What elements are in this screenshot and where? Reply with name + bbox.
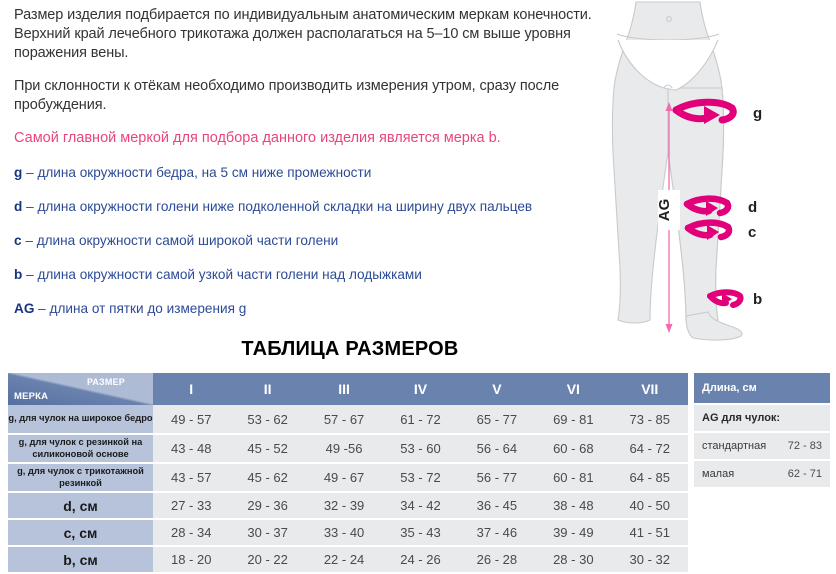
cell-r2c5: 60 - 81 (535, 463, 611, 492)
definition-text-c: длина окружности самой широкой части гол… (37, 233, 339, 248)
row-label-d: d, см (8, 492, 153, 519)
length-panel: Длина, см AG для чулок: стандартная 72 -… (694, 373, 830, 489)
size-table: РАЗМЕР МЕРКА I II III IV V VI VII g, для… (8, 373, 688, 574)
cell-r5c3: 24 - 26 (382, 546, 458, 573)
cell-r4c5: 39 - 49 (535, 519, 611, 546)
cell-r0c5: 69 - 81 (535, 405, 611, 434)
length-panel-header: Длина, см (694, 373, 830, 405)
cell-r3c1: 29 - 36 (229, 492, 305, 519)
cell-r4c3: 35 - 43 (382, 519, 458, 546)
table-row: b, см 18 - 20 20 - 22 22 - 24 24 - 26 26… (8, 546, 688, 573)
cell-r5c6: 30 - 32 (612, 546, 688, 573)
intro-text-column: Размер изделия подбирается по индивидуал… (14, 6, 614, 334)
length-row-name-standard: стандартная (702, 440, 788, 452)
cell-r2c2: 49 - 67 (306, 463, 382, 492)
column-header-2: II (229, 373, 305, 405)
length-row-value-standard: 72 - 83 (788, 440, 822, 452)
definition-key-d: d (14, 199, 22, 214)
cell-r0c4: 65 - 77 (459, 405, 535, 434)
cell-r2c1: 45 - 62 (229, 463, 305, 492)
page-title: ТАБЛИЦА РАЗМЕРОВ (0, 338, 700, 361)
length-row-name-small: малая (702, 468, 788, 480)
definition-dash-g: – (26, 165, 34, 180)
cell-r4c1: 30 - 37 (229, 519, 305, 546)
row-label-b: b, см (8, 546, 153, 573)
cell-r1c2: 49 -56 (306, 434, 382, 463)
cell-r3c6: 40 - 50 (612, 492, 688, 519)
cell-r5c2: 22 - 24 (306, 546, 382, 573)
highlight-note: Самой главной меркой для подбора данного… (14, 129, 614, 148)
length-panel-row-standard: стандартная 72 - 83 (694, 433, 830, 461)
column-header-5: V (459, 373, 535, 405)
definition-dash-c: – (25, 233, 33, 248)
definition-text-g: длина окружности бедра, на 5 см ниже про… (37, 165, 371, 180)
table-row: g, для чулок на широкое бедро 49 - 57 53… (8, 405, 688, 434)
cell-r3c0: 27 - 33 (153, 492, 229, 519)
diagram-label-b: b (753, 291, 762, 308)
column-header-4: IV (382, 373, 458, 405)
column-header-3: III (306, 373, 382, 405)
cell-r2c6: 64 - 85 (612, 463, 688, 492)
definition-dash-ag: – (38, 301, 46, 316)
cell-r3c3: 34 - 42 (382, 492, 458, 519)
definition-dash-d: – (26, 199, 34, 214)
length-panel-row-small: малая 62 - 71 (694, 461, 830, 489)
corner-label-merka: МЕРКА (14, 391, 48, 402)
definition-ag: AG – длина от пятки до измерения g (14, 300, 614, 318)
cell-r5c4: 26 - 28 (459, 546, 535, 573)
row-label-g-knitted: g, для чулок с трикотажной резинкой (8, 463, 153, 492)
cell-r2c4: 56 - 77 (459, 463, 535, 492)
cell-r4c0: 28 - 34 (153, 519, 229, 546)
leg-measurement-diagram: AG g d (598, 0, 836, 352)
cell-r3c4: 36 - 45 (459, 492, 535, 519)
cell-r4c6: 41 - 51 (612, 519, 688, 546)
cell-r0c2: 57 - 67 (306, 405, 382, 434)
table-row: c, см 28 - 34 30 - 37 33 - 40 35 - 43 37… (8, 519, 688, 546)
cell-r0c0: 49 - 57 (153, 405, 229, 434)
column-header-6: VI (535, 373, 611, 405)
definition-d: d – длина окружности голени ниже подколе… (14, 198, 614, 216)
cell-r1c0: 43 - 48 (153, 434, 229, 463)
cell-r5c5: 28 - 30 (535, 546, 611, 573)
length-panel-subtitle-row: AG для чулок: (694, 405, 830, 433)
table-corner-cell: РАЗМЕР МЕРКА (8, 373, 153, 405)
intro-paragraph-1: Размер изделия подбирается по индивидуал… (14, 6, 614, 63)
cell-r5c0: 18 - 20 (153, 546, 229, 573)
length-panel-subtitle: AG для чулок: (702, 412, 822, 424)
table-header-row: РАЗМЕР МЕРКА I II III IV V VI VII (8, 373, 688, 405)
cell-r3c2: 32 - 39 (306, 492, 382, 519)
intro-paragraph-2: При склонности к отёкам необходимо произ… (14, 77, 614, 115)
definition-key-g: g (14, 165, 22, 180)
definition-key-b: b (14, 267, 22, 282)
definition-key-c: c (14, 233, 22, 248)
cell-r1c4: 56 - 64 (459, 434, 535, 463)
table-row: g, для чулок с трикотажной резинкой 43 -… (8, 463, 688, 492)
definition-dash-b: – (26, 267, 34, 282)
diagram-label-g: g (753, 105, 762, 122)
svg-text:AG: AG (656, 199, 673, 222)
definition-text-d: длина окружности голени ниже подколенной… (37, 199, 532, 214)
table-row: g, для чулок с резинкой на силиконовой о… (8, 434, 688, 463)
column-header-1: I (153, 373, 229, 405)
definition-g: g – длина окружности бедра, на 5 см ниже… (14, 164, 614, 182)
table-row: d, см 27 - 33 29 - 36 32 - 39 34 - 42 36… (8, 492, 688, 519)
cell-r1c6: 64 - 72 (612, 434, 688, 463)
cell-r1c5: 60 - 68 (535, 434, 611, 463)
definition-b: b – длина окружности самой узкой части г… (14, 266, 614, 284)
corner-label-razmer: РАЗМЕР (87, 377, 125, 387)
cell-r5c1: 20 - 22 (229, 546, 305, 573)
diagram-label-c: c (748, 224, 756, 241)
column-header-7: VII (612, 373, 688, 405)
cell-r3c5: 38 - 48 (535, 492, 611, 519)
definition-text-ag: длина от пятки до измерения g (50, 301, 247, 316)
diagram-label-d: d (748, 199, 757, 216)
cell-r1c1: 45 - 52 (229, 434, 305, 463)
cell-r4c2: 33 - 40 (306, 519, 382, 546)
cell-r2c3: 53 - 72 (382, 463, 458, 492)
cell-r2c0: 43 - 57 (153, 463, 229, 492)
row-label-g-wide-thigh: g, для чулок на широкое бедро (8, 405, 153, 434)
cell-r0c6: 73 - 85 (612, 405, 688, 434)
definition-c: c – длина окружности самой широкой части… (14, 232, 614, 250)
cell-r0c1: 53 - 62 (229, 405, 305, 434)
cell-r1c3: 53 - 60 (382, 434, 458, 463)
cell-r4c4: 37 - 46 (459, 519, 535, 546)
row-label-g-silicone: g, для чулок с резинкой на силиконовой о… (8, 434, 153, 463)
definition-key-ag: AG (14, 301, 34, 316)
definition-text-b: длина окружности самой узкой части голен… (37, 267, 421, 282)
row-label-c: c, см (8, 519, 153, 546)
cell-r0c3: 61 - 72 (382, 405, 458, 434)
length-row-value-small: 62 - 71 (788, 468, 822, 480)
